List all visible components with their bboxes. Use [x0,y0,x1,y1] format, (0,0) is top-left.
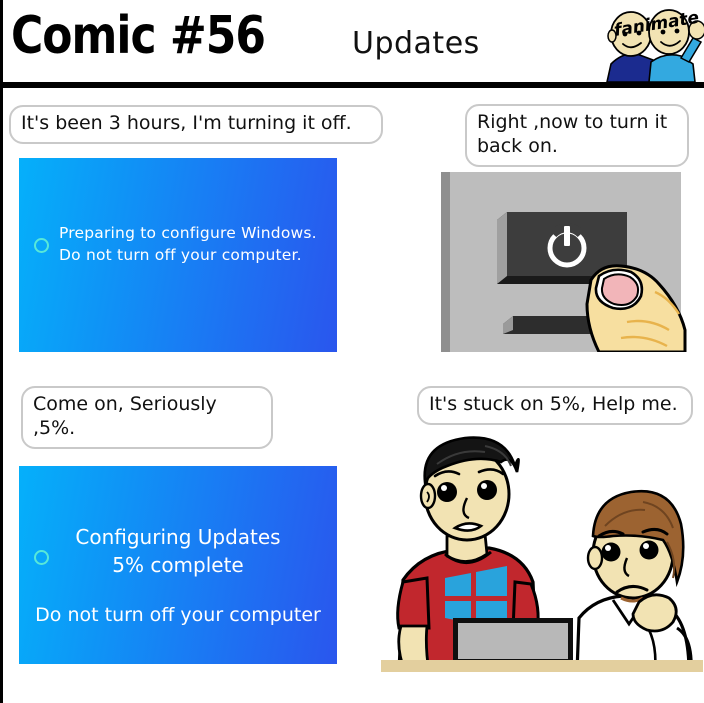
comic-title: Updates [352,26,480,61]
speech-bubble-panel-4: It's stuck on 5%, Help me. [417,386,693,425]
power-button-scene [441,172,693,352]
loading-spinner-icon [34,238,49,253]
power-button-left-bevel [497,212,507,284]
update-message-1: Preparing to configure Windows. Do not t… [59,222,317,267]
case-left-edge [441,172,450,352]
comic-header: Comic #56 Updates fanimate [3,0,704,88]
laptop [453,618,573,662]
comic-number-label: Comic #56 [11,6,265,66]
characters-at-laptop-scene [381,432,703,672]
character-right-brown-hair [577,491,691,672]
windows-update-screen-2: Configuring Updates 5% complete Do not t… [19,466,337,664]
windows-update-screen-1: Preparing to configure Windows. Do not t… [19,158,337,352]
laptop-screen [458,623,568,659]
fanimate-logo: fanimate [601,2,704,82]
speech-bubble-panel-3: Come on, Seriously ,5%. [21,386,273,449]
configuring-updates-heading: Configuring Updates 5% complete [19,524,337,579]
desk-surface [381,660,703,672]
speech-bubble-panel-2: Right ,now to turn it back on. [465,104,689,167]
comic-strip: Comic #56 Updates fanimate It's [0,0,704,703]
speech-bubble-panel-1: It's been 3 hours, I'm turning it off. [9,105,383,144]
do-not-turn-off-warning: Do not turn off your computer [19,604,337,626]
